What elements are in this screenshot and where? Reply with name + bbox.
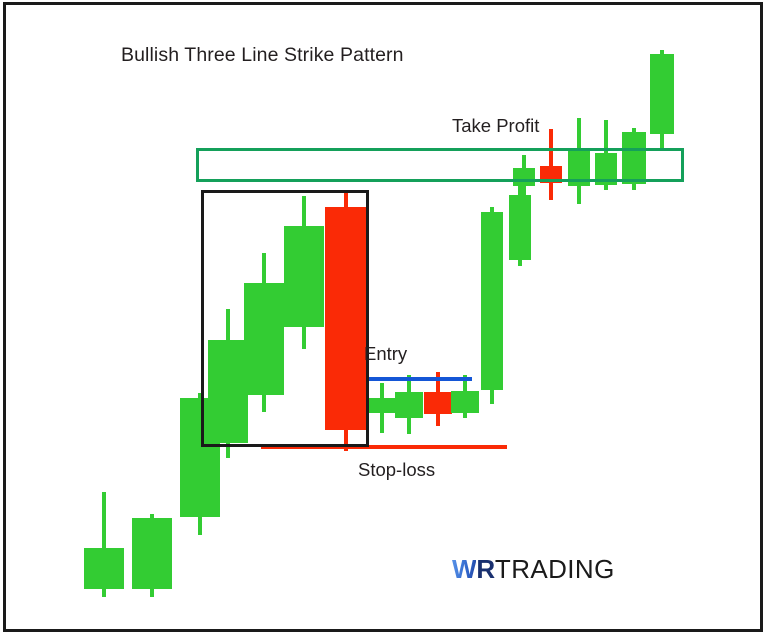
chart-screenshot: Bullish Three Line Strike Pattern Take P… [0,0,768,637]
candle-body [650,54,674,134]
watermark-r: R [476,554,495,584]
entry-line [366,377,472,381]
candle-body [509,195,531,260]
pattern-highlight-box [201,190,369,447]
candle-body [424,392,452,414]
candle-body [481,212,503,390]
candle-body [395,392,423,418]
entry-label: Entry [364,343,407,365]
candle-body [84,548,124,589]
candle-body [132,518,172,589]
page-title: Bullish Three Line Strike Pattern [121,44,404,67]
watermark-w: W [452,554,476,584]
stop-loss-label: Stop-loss [358,459,435,481]
candle-body [368,398,396,413]
candlestick-chart [0,0,768,637]
watermark-trading: TRADING [495,554,615,584]
watermark-logo: WRTRADING [452,554,615,585]
take-profit-label: Take Profit [452,115,539,137]
candle-body [451,391,479,413]
take-profit-zone [196,148,684,182]
